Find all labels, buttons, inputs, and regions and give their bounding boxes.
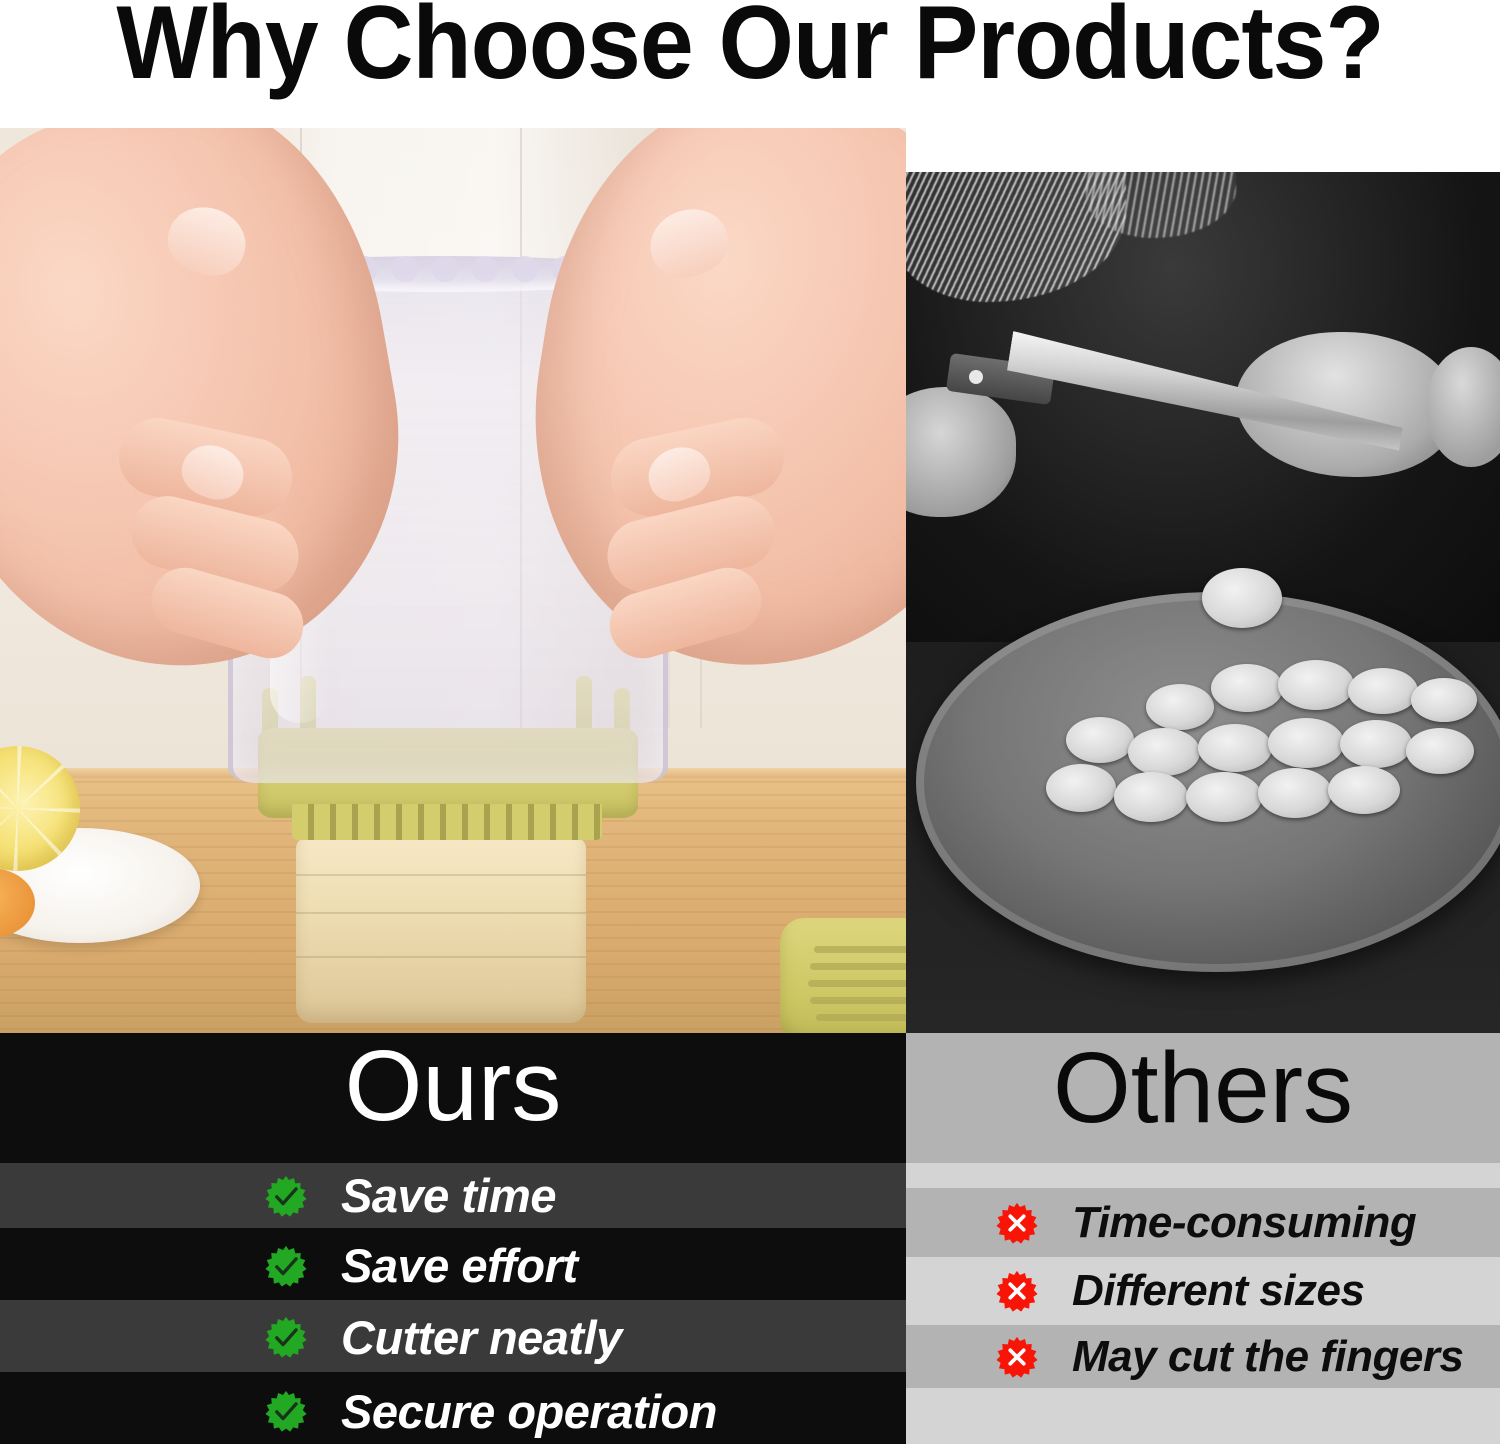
banana-slice [1211, 664, 1283, 712]
knife-rivet [969, 370, 983, 384]
red-cross-badge-icon [996, 1270, 1038, 1312]
ours-benefit-row: Save time [0, 1163, 906, 1228]
others-drawback-label: Different sizes [1072, 1266, 1364, 1316]
banana-slice [1114, 772, 1188, 822]
yellow-silicone-mat [780, 918, 906, 1033]
ours-benefit-label: Secure operation [341, 1384, 717, 1439]
infographic-page: Why Choose Our Products? [0, 0, 1500, 1444]
banana-slice [1186, 772, 1262, 822]
ours-benefit-label: Save time [341, 1168, 556, 1223]
green-check-badge-icon [265, 1316, 307, 1358]
green-check-badge-icon [265, 1245, 307, 1287]
banana-slice [1128, 728, 1200, 776]
banana-slice [1046, 764, 1116, 812]
ours-benefit-row: Save effort [0, 1233, 906, 1298]
banana-slice [1411, 678, 1477, 722]
banana-slice-on-knife [1202, 568, 1282, 628]
ours-benefit-label: Cutter neatly [341, 1310, 622, 1365]
ours-product-photo [0, 128, 906, 1033]
banana-slice [1066, 717, 1134, 763]
row-stripe [906, 1163, 1500, 1188]
banana-slice [1146, 684, 1214, 730]
green-check-badge-icon [265, 1175, 307, 1217]
banana-slice [1278, 660, 1354, 710]
banana-slice [1340, 720, 1412, 768]
ours-comparison-panel: Ours Save time Save effort [0, 1033, 906, 1444]
ours-panel-title: Ours [0, 1034, 906, 1139]
others-drawback-row: Time-consuming [906, 1188, 1500, 1257]
page-title: Why Choose Our Products? [53, 0, 1448, 100]
slicer-blade-teeth [292, 804, 602, 840]
green-check-badge-icon [265, 1390, 307, 1432]
header-bar: Why Choose Our Products? [0, 0, 1500, 128]
banana-slice [1268, 718, 1344, 768]
banana-slice [1406, 728, 1474, 774]
banana-slice [1348, 668, 1418, 714]
ours-benefit-label: Save effort [341, 1238, 578, 1293]
others-panel-title: Others [906, 1036, 1500, 1141]
others-drawback-row: Different sizes [906, 1257, 1500, 1325]
banana-slice [1198, 724, 1272, 772]
banana-lower-half [296, 838, 586, 1023]
ours-benefit-row: Cutter neatly [0, 1303, 906, 1371]
others-drawback-row: May cut the fingers [906, 1325, 1500, 1388]
red-cross-badge-icon [996, 1202, 1038, 1244]
others-comparison-panel: Others Time-consuming Different sizes [906, 1033, 1500, 1444]
others-drawback-label: May cut the fingers [1072, 1332, 1463, 1382]
banana-slice [1258, 768, 1332, 818]
banana-slice [1328, 766, 1400, 814]
row-stripe [906, 1388, 1500, 1444]
red-cross-badge-icon [996, 1336, 1038, 1378]
others-product-photo [906, 172, 1500, 1033]
ours-benefit-row: Secure operation [0, 1377, 906, 1444]
others-drawback-label: Time-consuming [1072, 1198, 1416, 1248]
